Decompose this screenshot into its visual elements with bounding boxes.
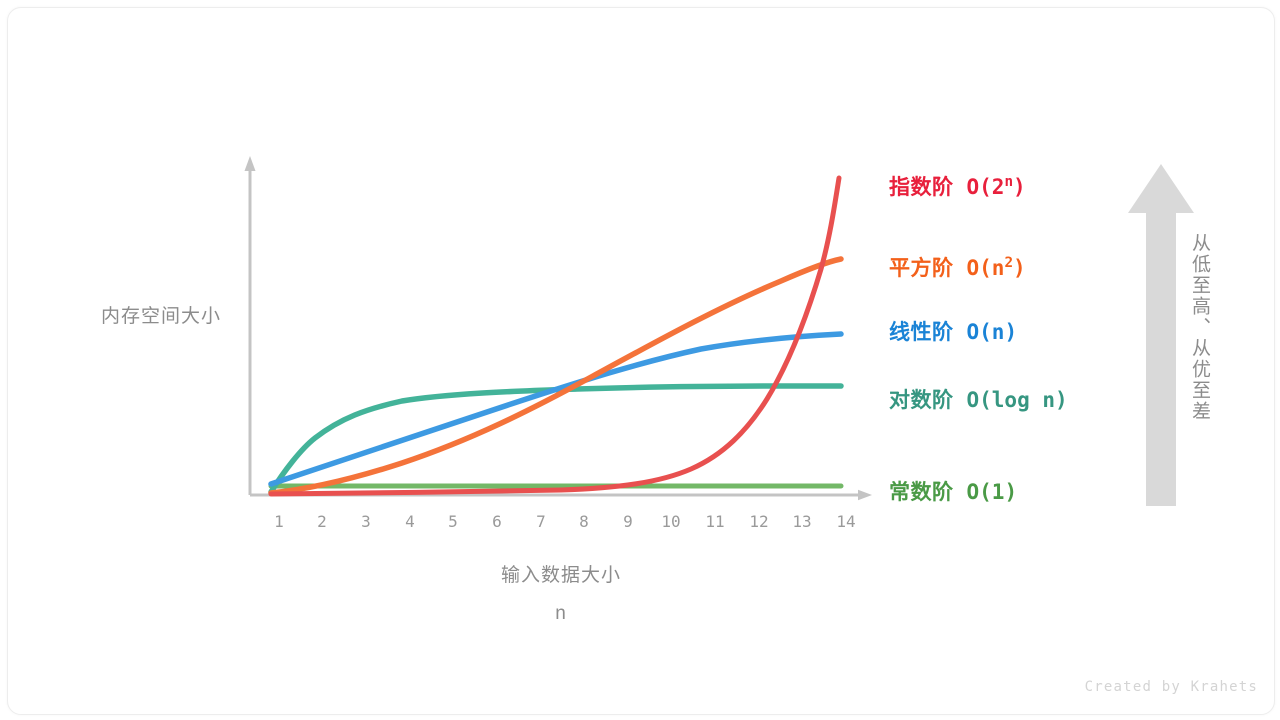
legend-notation-sup-quadratic: 2 — [1004, 255, 1013, 271]
legend-item-constant: 常数阶O(1) — [889, 476, 1017, 506]
chart-card: 内存空间大小 输入数据大小 n 1 2 3 4 5 6 7 8 9 10 11 … — [7, 7, 1275, 715]
legend-label-quadratic: 平方阶 — [889, 256, 954, 280]
x-tick-1: 1 — [266, 512, 292, 531]
legend-notation-quadratic: O(n2) — [967, 256, 1026, 280]
legend-label-logarithmic: 对数阶 — [889, 388, 954, 412]
legend-notation-post-exponential: ) — [1013, 175, 1026, 199]
legend-notation-pre-linear: O(n — [967, 320, 1005, 344]
legend-notation-post-logarithmic: ) — [1055, 388, 1068, 412]
x-tick-5: 5 — [440, 512, 466, 531]
x-tick-6: 6 — [484, 512, 510, 531]
legend-notation-pre-logarithmic: O(log n — [967, 388, 1056, 412]
legend-notation-constant: O(1) — [967, 480, 1018, 504]
x-tick-4: 4 — [397, 512, 423, 531]
x-axis-title-sub: n — [451, 595, 671, 633]
x-tick-11: 11 — [702, 512, 728, 531]
x-tick-8: 8 — [571, 512, 597, 531]
legend-notation-post-linear: ) — [1004, 320, 1017, 344]
legend-notation-post-constant: ) — [1004, 480, 1017, 504]
legend-notation-sup-exponential: n — [1004, 174, 1013, 190]
legend-label-constant: 常数阶 — [889, 480, 954, 504]
x-tick-10: 10 — [658, 512, 684, 531]
legend-notation-linear: O(n) — [967, 320, 1018, 344]
x-tick-12: 12 — [746, 512, 772, 531]
legend-item-exponential: 指数阶O(2n) — [889, 171, 1026, 201]
chart-stage: 内存空间大小 输入数据大小 n 1 2 3 4 5 6 7 8 9 10 11 … — [8, 8, 1274, 714]
legend-notation-pre-exponential: O(2 — [967, 175, 1005, 199]
x-tick-7: 7 — [528, 512, 554, 531]
legend-label-linear: 线性阶 — [889, 320, 954, 344]
x-tick-3: 3 — [353, 512, 379, 531]
y-axis-title: 内存空间大小 — [81, 301, 241, 328]
legend-notation-exponential: O(2n) — [967, 175, 1026, 199]
series-line-linear — [271, 334, 841, 484]
credit-text: Created by Krahets — [1028, 679, 1258, 695]
rank-arrow-label: 从低至高、从优至差 — [1133, 233, 1213, 422]
x-tick-14: 14 — [833, 512, 859, 531]
x-axis-title: 输入数据大小 n — [451, 557, 671, 633]
legend-notation-logarithmic: O(log n) — [967, 388, 1068, 412]
legend-notation-pre-constant: O(1 — [967, 480, 1005, 504]
legend-notation-pre-quadratic: O(n — [967, 256, 1005, 280]
y-axis — [245, 156, 256, 495]
series-line-exponential — [271, 178, 839, 494]
legend-item-linear: 线性阶O(n) — [889, 316, 1017, 346]
x-tick-13: 13 — [789, 512, 815, 531]
x-tick-2: 2 — [309, 512, 335, 531]
x-axis-title-main: 输入数据大小 — [501, 565, 621, 586]
legend-label-exponential: 指数阶 — [889, 175, 954, 199]
legend-notation-post-quadratic: ) — [1013, 256, 1026, 280]
x-tick-9: 9 — [615, 512, 641, 531]
legend-item-quadratic: 平方阶O(n2) — [889, 252, 1026, 282]
legend-item-logarithmic: 对数阶O(log n) — [889, 384, 1068, 414]
